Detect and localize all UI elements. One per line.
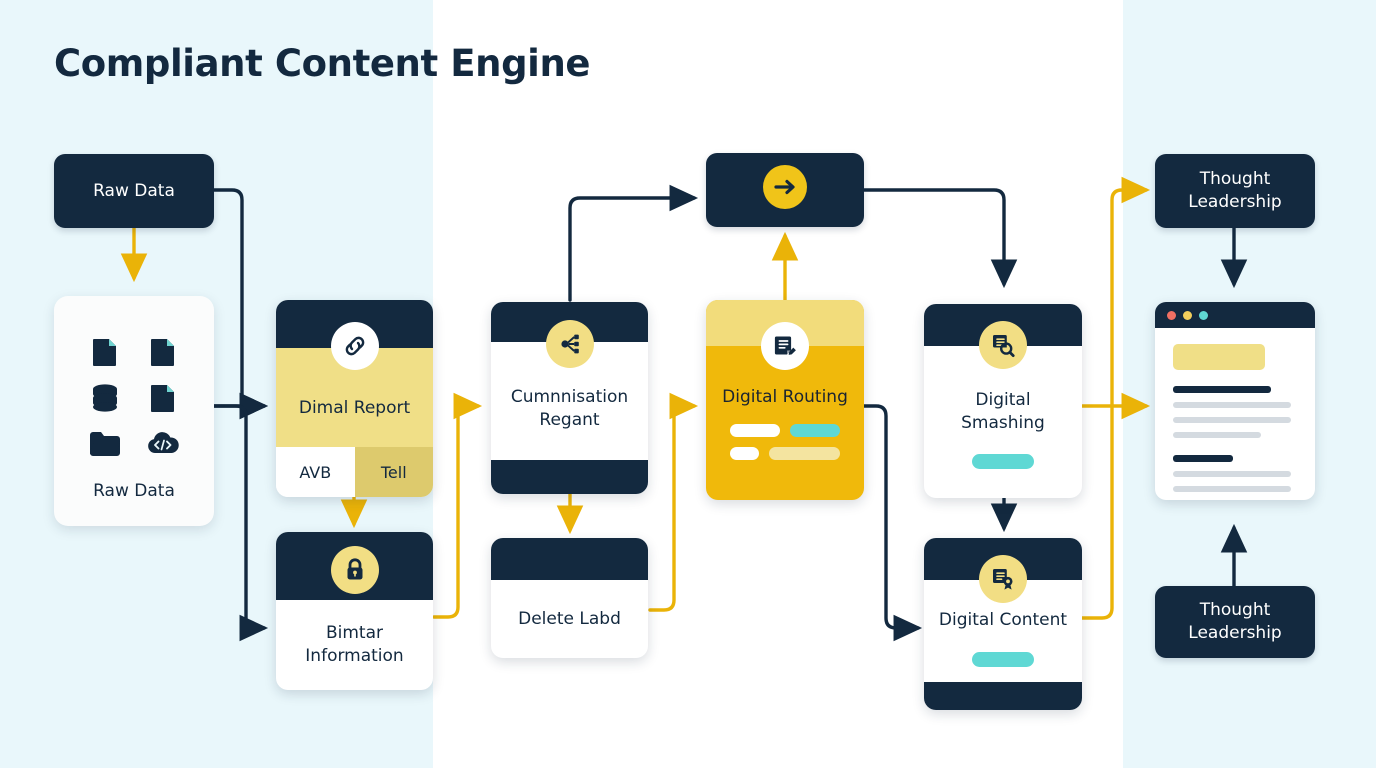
digital-content-title: Digital Content [931, 609, 1075, 632]
database-icon [90, 383, 120, 417]
dimal-report-header [276, 300, 433, 348]
dimal-report-cell-right[interactable]: Tell [355, 447, 434, 497]
digital-smashing-accent-pill [972, 454, 1034, 469]
thought-leadership-bottom-label: Thought Leadership [1155, 599, 1315, 645]
traffic-light-minimize[interactable] [1183, 311, 1192, 320]
node-raw-data-pill[interactable]: Raw Data [54, 154, 214, 228]
diagram-canvas: Compliant Content Engine [0, 0, 1376, 768]
certificate-icon [979, 555, 1027, 603]
digital-routing-title: Digital Routing [722, 386, 848, 409]
node-digital-routing[interactable]: Digital Routing [706, 300, 864, 500]
node-delete-labd[interactable]: Delete Labd [491, 538, 648, 658]
bar-pale [769, 447, 840, 460]
digital-routing-bar-row [730, 447, 840, 460]
link-icon [331, 322, 379, 370]
browser-heading-line [1173, 455, 1233, 462]
cumnnisation-regant-header [491, 302, 648, 342]
page-title: Compliant Content Engine [54, 42, 590, 85]
node-routing-hub[interactable] [706, 153, 864, 227]
bar-white [730, 424, 780, 437]
node-thought-leadership-bottom[interactable]: Thought Leadership [1155, 586, 1315, 658]
node-digital-content[interactable]: Digital Content [924, 538, 1082, 710]
delete-labd-body: Delete Labd [491, 580, 648, 658]
browser-spacer [1173, 447, 1297, 455]
bar-white [730, 447, 759, 460]
traffic-light-maximize[interactable] [1199, 311, 1208, 320]
document-icon [92, 337, 118, 371]
node-thought-leadership-top[interactable]: Thought Leadership [1155, 154, 1315, 228]
browser-text-line [1173, 471, 1291, 477]
thought-leadership-top-label: Thought Leadership [1155, 168, 1315, 214]
browser-content [1155, 328, 1315, 500]
cumnnisation-regant-title: Cumnnisation Regant [491, 386, 648, 432]
browser-heading-line [1173, 386, 1271, 393]
document-search-icon [979, 321, 1027, 369]
delete-labd-header [491, 538, 648, 580]
network-icon [546, 320, 594, 368]
bimtar-information-header [276, 532, 433, 600]
browser-title-bar [1155, 302, 1315, 328]
document-lines-icon [761, 322, 809, 370]
cloud-code-icon [146, 431, 180, 461]
node-cumnnisation-regant[interactable]: Cumnnisation Regant [491, 302, 648, 494]
digital-smashing-title: Digital Smashing [924, 389, 1082, 435]
browser-text-line [1173, 402, 1291, 408]
digital-content-accent-pill [972, 652, 1034, 667]
folder-icon [89, 431, 121, 461]
dimal-report-title: Dimal Report [291, 397, 418, 420]
node-raw-data-card[interactable]: Raw Data [54, 296, 214, 526]
raw-data-icon-grid [76, 331, 192, 469]
bimtar-information-body: Bimtar Information [276, 600, 433, 690]
node-digital-smashing[interactable]: Digital Smashing [924, 304, 1082, 498]
raw-data-card-label: Raw Data [93, 481, 175, 501]
cumnnisation-regant-footer [491, 460, 648, 494]
traffic-light-close[interactable] [1167, 311, 1176, 320]
lock-icon [331, 546, 379, 594]
arrow-right-icon [760, 162, 810, 219]
browser-hero-block [1173, 344, 1265, 370]
digital-routing-bars [730, 424, 840, 470]
browser-text-line [1173, 417, 1291, 423]
digital-routing-bar-row [730, 424, 840, 437]
dimal-report-split-row: AVB Tell [276, 447, 433, 497]
digital-smashing-header [924, 304, 1082, 346]
bimtar-information-title: Bimtar Information [276, 622, 433, 668]
node-output-browser[interactable] [1155, 302, 1315, 500]
digital-content-header [924, 538, 1082, 580]
browser-text-line [1173, 486, 1291, 492]
node-bimtar-information[interactable]: Bimtar Information [276, 532, 433, 690]
document-icon [150, 383, 176, 417]
raw-data-pill-label: Raw Data [93, 180, 175, 203]
bar-teal [790, 424, 840, 437]
browser-text-line [1173, 432, 1261, 438]
digital-content-footer [924, 682, 1082, 710]
node-dimal-report[interactable]: Dimal Report AVB Tell [276, 300, 433, 497]
dimal-report-cell-left[interactable]: AVB [276, 447, 355, 497]
delete-labd-title: Delete Labd [510, 608, 629, 631]
document-icon [150, 337, 176, 371]
